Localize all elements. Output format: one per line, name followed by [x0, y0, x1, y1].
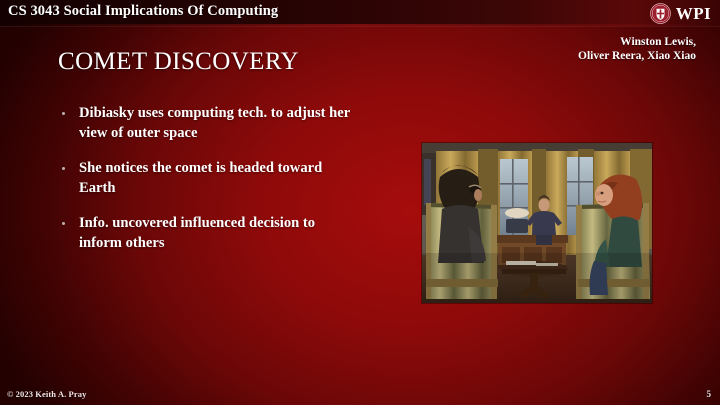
photo-illustration: [422, 143, 652, 303]
course-title: CS 3043 Social Implications Of Computing: [8, 3, 278, 20]
slide-title: COMET DISCOVERY: [58, 48, 299, 76]
wpi-seal-icon: [650, 3, 671, 24]
bullet-item: She notices the comet is headed toward E…: [58, 159, 358, 198]
bullet-item: Info. uncovered influenced decision to i…: [58, 214, 358, 253]
bullet-dot-icon: [62, 167, 65, 170]
author-line-2: Oliver Reera, Xiao Xiao: [578, 49, 696, 63]
author-names: Winston Lewis, Oliver Reera, Xiao Xiao: [578, 35, 696, 63]
slide-header-bar: CS 3043 Social Implications Of Computing…: [0, 0, 720, 26]
presentation-slide: CS 3043 Social Implications Of Computing…: [0, 0, 720, 405]
copyright-notice: © 2023 Keith A. Pray: [7, 389, 86, 399]
wpi-logo: WPI: [650, 2, 711, 24]
bullet-text: Info. uncovered influenced decision to i…: [79, 215, 315, 251]
oval-office-scene-photo: [422, 143, 652, 303]
bullet-dot-icon: [62, 112, 65, 115]
bullet-list: Dibiasky uses computing tech. to adjust …: [58, 104, 358, 269]
bullet-text: She notices the comet is headed toward E…: [79, 160, 322, 196]
wpi-wordmark: WPI: [676, 3, 711, 24]
page-number: 5: [707, 389, 712, 399]
author-line-1: Winston Lewis,: [578, 35, 696, 49]
bullet-text: Dibiasky uses computing tech. to adjust …: [79, 105, 350, 141]
bullet-item: Dibiasky uses computing tech. to adjust …: [58, 104, 358, 143]
bullet-dot-icon: [62, 222, 65, 225]
